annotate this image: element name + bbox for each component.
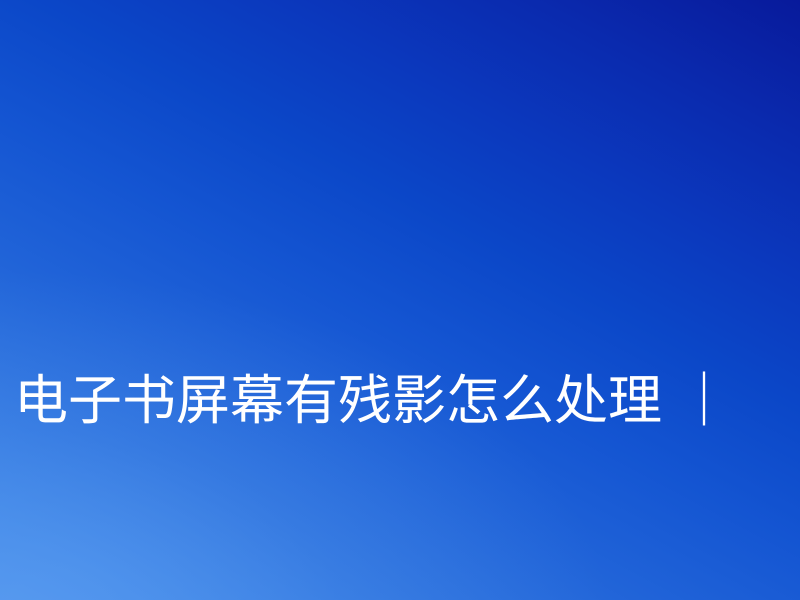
headline-text: 电子书屏幕有残影怎么处理 ｜ 墨水屏全屏刷新方法 — [14, 206, 780, 600]
headline-line-2: 墨水屏全屏刷新方法 — [14, 596, 780, 600]
title-card: 电子书屏幕有残影怎么处理 ｜ 墨水屏全屏刷新方法 — [0, 0, 800, 600]
headline-line-1: 电子书屏幕有残影怎么处理 ｜ — [14, 362, 780, 440]
